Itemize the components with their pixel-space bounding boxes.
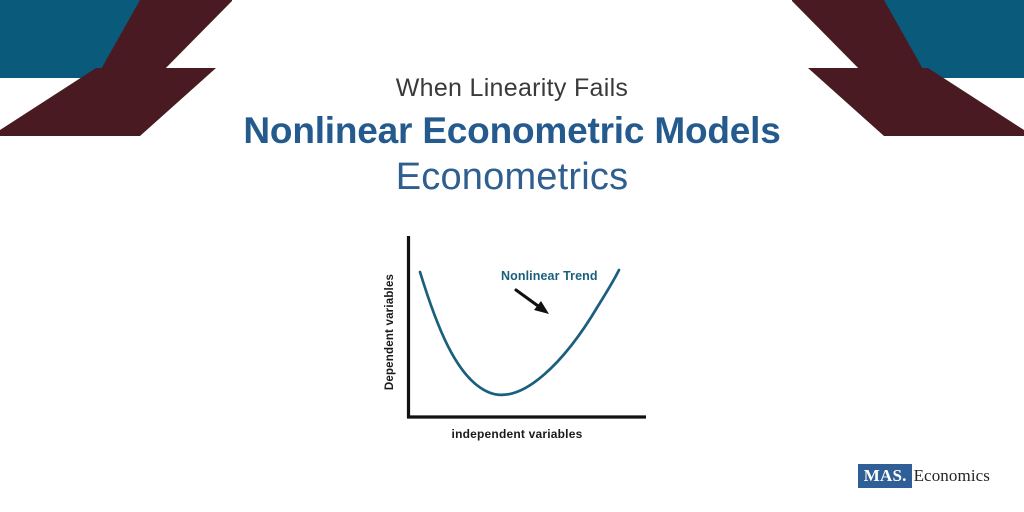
y-axis-label: Dependent variables — [384, 274, 396, 390]
nonlinear-trend-annotation-label: Nonlinear Trend — [501, 269, 598, 283]
slide-canvas: When Linearity Fails Nonlinear Econometr… — [0, 0, 1024, 512]
corner-maroon-band-right-upper — [792, 0, 928, 78]
chart-figure: Nonlinear Trend Dependent variables inde… — [370, 228, 660, 448]
brand-logo: MAS. Economics — [858, 464, 990, 488]
corner-teal-shape-left — [0, 0, 172, 78]
corner-maroon-band-left-upper — [96, 0, 232, 78]
logo-mark-mas: MAS. — [858, 464, 912, 488]
title-block: When Linearity Fails Nonlinear Econometr… — [0, 74, 1024, 201]
logo-word-economics: Economics — [912, 464, 990, 488]
corner-teal-shape-right — [852, 0, 1024, 78]
page-title: Nonlinear Econometric Models — [0, 109, 1024, 153]
eyebrow-text: When Linearity Fails — [0, 74, 1024, 103]
nonlinear-trend-curve — [420, 270, 619, 395]
subtitle-text: Econometrics — [0, 155, 1024, 201]
nonlinear-trend-arrow-icon — [516, 290, 549, 314]
x-axis-label: independent variables — [452, 427, 583, 441]
